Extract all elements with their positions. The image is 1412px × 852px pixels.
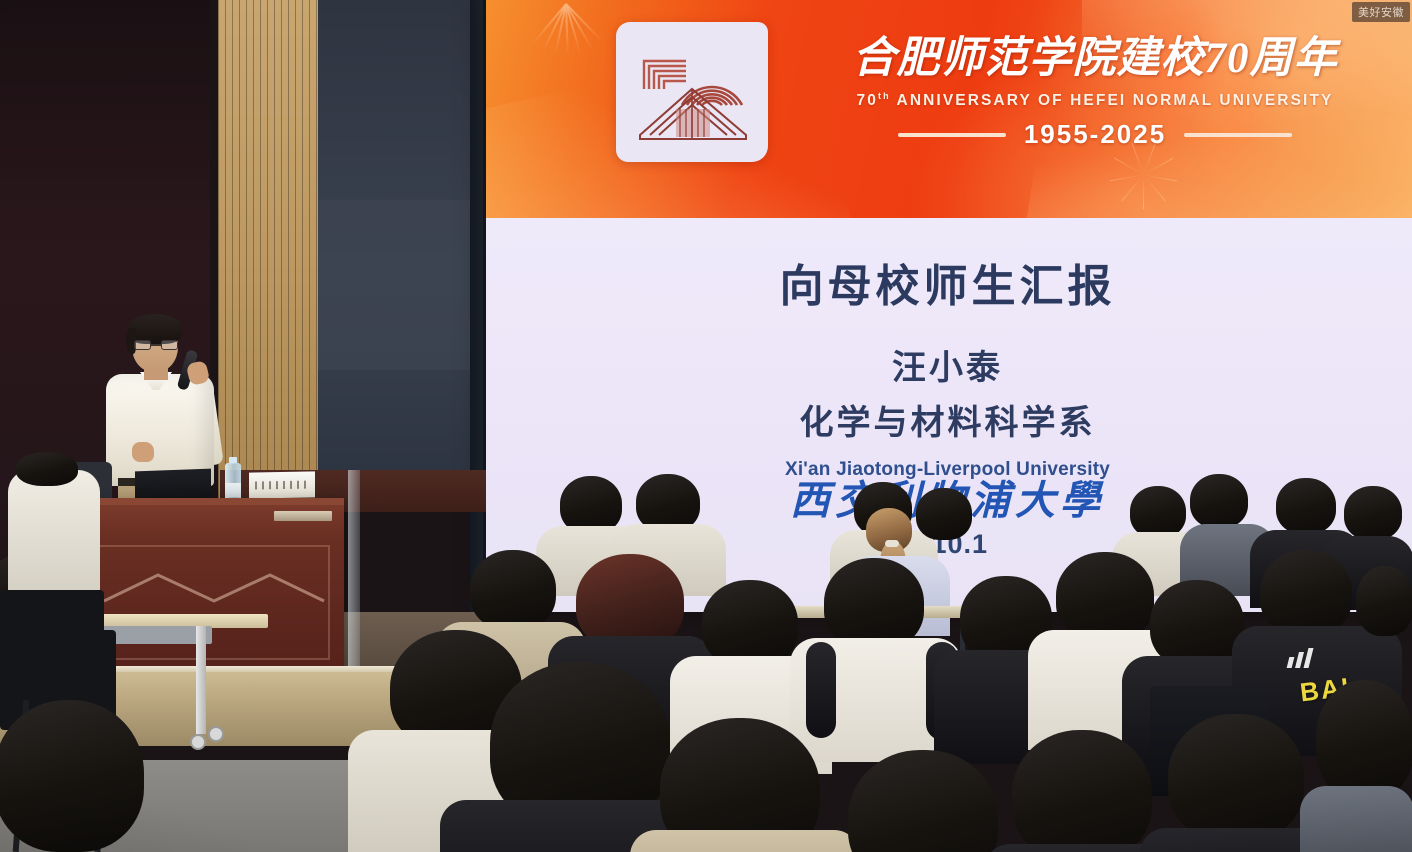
audience-head	[702, 580, 798, 668]
banner-title-chinese: 合肥师范学院建校70周年	[795, 36, 1395, 81]
audience-head	[848, 750, 998, 852]
slide-title: 向母校师生汇报	[483, 250, 1412, 314]
audience-head	[1190, 474, 1248, 528]
university-anniversary-logo-icon	[616, 22, 768, 162]
anniversary-banner: 合肥师范学院建校70周年 70th ANNIVERSARY OF HEFEI N…	[483, 0, 1412, 218]
watermark: 美好安徽	[1352, 2, 1410, 22]
audience-head	[1260, 550, 1352, 636]
adidas-logo-icon	[1288, 648, 1314, 668]
audience-body	[630, 830, 860, 852]
sparkle-icon	[1104, 140, 1182, 210]
audience-head	[1276, 478, 1336, 534]
audience-head	[1316, 680, 1412, 800]
seated-audience: BAL	[0, 430, 1412, 852]
divider-left	[898, 133, 1006, 137]
audience-head	[1056, 552, 1154, 642]
foreground-audience-head	[0, 700, 144, 852]
audience-head	[824, 558, 924, 650]
presenter-name: 汪小泰	[483, 340, 1412, 389]
banner-title-english: 70th ANNIVERSARY OF HEFEI NORMAL UNIVERS…	[795, 91, 1395, 110]
audience-head	[470, 550, 556, 630]
audience-head	[916, 488, 972, 540]
slate-wall-panel-highlight	[318, 200, 488, 370]
banner-text-block: 合肥师范学院建校70周年 70th ANNIVERSARY OF HEFEI N…	[795, 36, 1395, 150]
audience-body	[1300, 786, 1412, 852]
foreground-audience-head	[16, 452, 78, 486]
audience-head	[1150, 580, 1244, 668]
raglan-sleeve	[806, 642, 836, 738]
firework-icon	[505, 4, 625, 94]
foreground-audience-body	[8, 470, 100, 590]
glasses-icon	[134, 340, 178, 350]
lecture-hall-scene: 合肥师范学院建校70周年 70th ANNIVERSARY OF HEFEI N…	[0, 0, 1412, 852]
divider-right	[1184, 133, 1292, 137]
audience-head	[1130, 486, 1186, 538]
audience-head	[1356, 566, 1412, 636]
audience-head	[1012, 730, 1152, 852]
audience-head	[1344, 486, 1402, 540]
audience-head	[1168, 714, 1304, 842]
banner-years: 1955-2025	[1024, 119, 1166, 150]
banner-years-row: 1955-2025	[795, 119, 1395, 150]
hair-tie	[885, 540, 899, 547]
